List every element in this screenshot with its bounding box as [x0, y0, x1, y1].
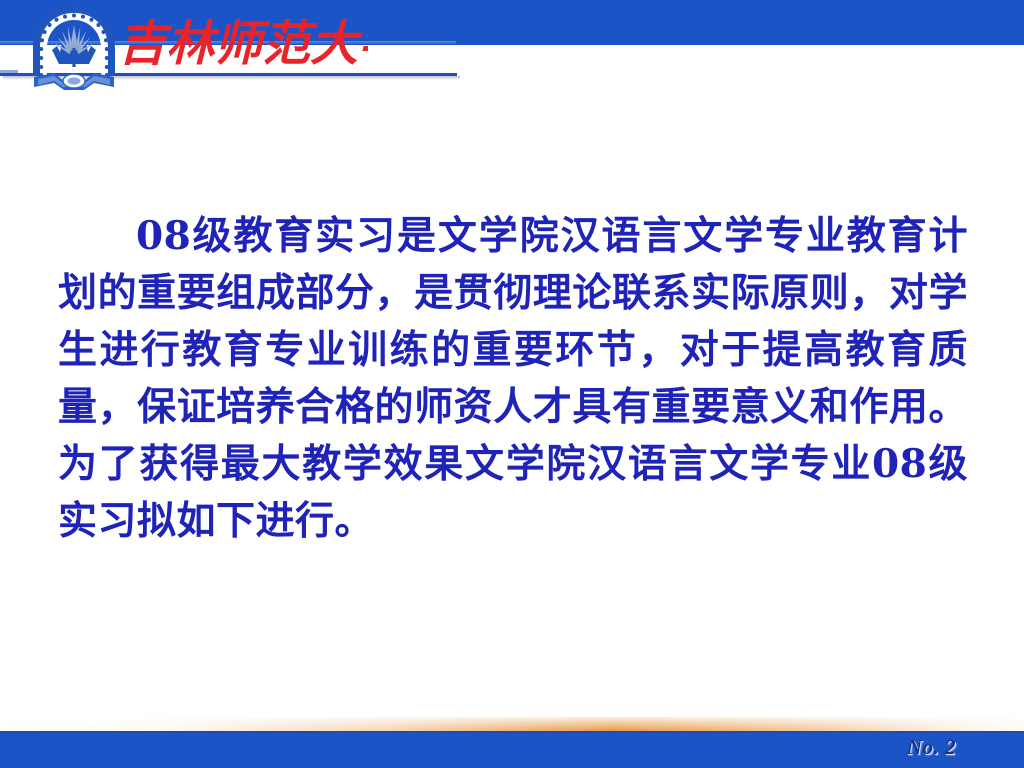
- page-number-label: No. 2: [907, 735, 956, 760]
- university-wordmark: 吉林师范大学: [118, 14, 368, 76]
- wordmark-text: 吉林师范大学: [118, 16, 368, 72]
- slide-canvas: 吉林师范大学 08级教育实习是文学院汉语言文学专业教育计划的重要组成部分，是贯彻…: [0, 0, 1024, 768]
- slide-header: 吉林师范大学: [0, 0, 1024, 110]
- university-crest-icon: [24, 2, 124, 94]
- slide-body-paragraph: 08级教育实习是文学院汉语言文学专业教育计划的重要组成部分，是贯彻理论联系实际原…: [58, 208, 968, 550]
- footer-blue-bar: [0, 731, 1024, 768]
- slide-footer: No. 2: [0, 717, 1024, 768]
- footer-bar-topline: [0, 731, 1024, 733]
- footer-accent-highlight: [0, 717, 1024, 731]
